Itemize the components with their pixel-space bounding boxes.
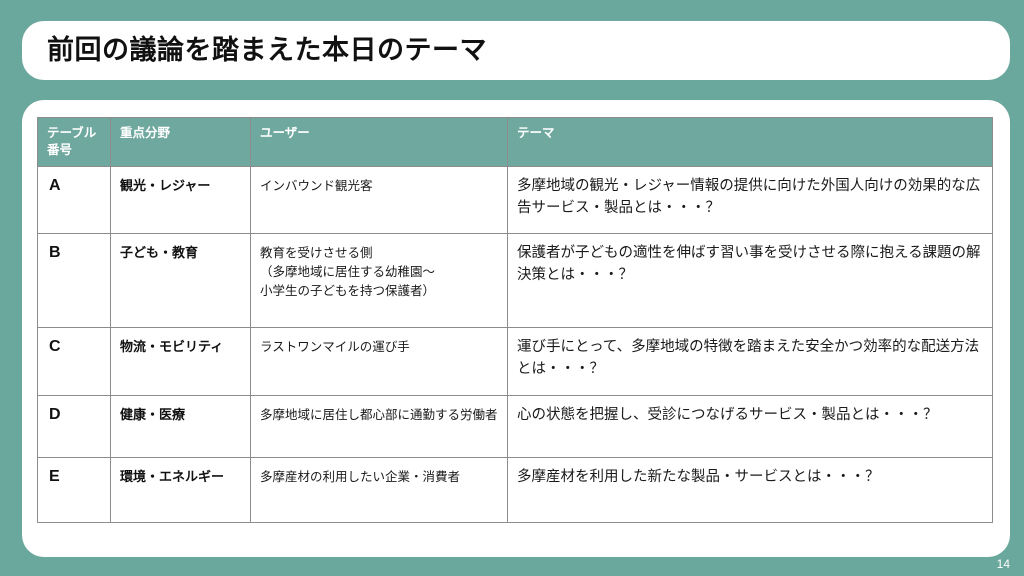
content-card: テーブル番号 重点分野 ユーザー テーマ A 観光・レジャー インバウンド観光客…: [22, 100, 1010, 557]
cell-focus-area: 子ども・教育: [111, 234, 251, 328]
table-row: E 環境・エネルギー 多摩産材の利用したい企業・消費者 多摩産材を利用した新たな…: [38, 458, 993, 523]
column-header-table-number-line2: 番号: [47, 143, 72, 157]
column-header-user: ユーザー: [251, 118, 508, 167]
theme-table: テーブル番号 重点分野 ユーザー テーマ A 観光・レジャー インバウンド観光客…: [37, 117, 993, 523]
cell-focus-area: 健康・医療: [111, 396, 251, 458]
cell-theme: 保護者が子どもの適性を伸ばす習い事を受けさせる際に抱える課題の解決策とは・・・？: [508, 234, 993, 328]
column-header-theme: テーマ: [508, 118, 993, 167]
cell-focus-area: 環境・エネルギー: [111, 458, 251, 523]
table-row: C 物流・モビリティ ラストワンマイルの運び手 運び手にとって、多摩地域の特徴を…: [38, 328, 993, 396]
cell-table-number: D: [38, 396, 111, 458]
column-header-focus-area: 重点分野: [111, 118, 251, 167]
cell-theme: 運び手にとって、多摩地域の特徴を踏まえた安全かつ効率的な配送方法とは・・・？: [508, 328, 993, 396]
cell-focus-area: 物流・モビリティ: [111, 328, 251, 396]
cell-theme: 多摩産材を利用した新たな製品・サービスとは・・・？: [508, 458, 993, 523]
cell-table-number: B: [38, 234, 111, 328]
cell-user: インバウンド観光客: [251, 167, 508, 234]
cell-table-number: A: [38, 167, 111, 234]
cell-table-number: C: [38, 328, 111, 396]
table-row: D 健康・医療 多摩地域に居住し都心部に通勤する労働者 心の状態を把握し、受診に…: [38, 396, 993, 458]
cell-table-number: E: [38, 458, 111, 523]
cell-user: 教育を受けさせる側 （多摩地域に居住する幼稚園～ 小学生の子どもを持つ保護者）: [251, 234, 508, 328]
page-number: 14: [997, 558, 1010, 570]
page-title: 前回の議論を踏まえた本日のテーマ: [22, 37, 487, 64]
cell-user: 多摩地域に居住し都心部に通勤する労働者: [251, 396, 508, 458]
cell-user: ラストワンマイルの運び手: [251, 328, 508, 396]
table-header-row: テーブル番号 重点分野 ユーザー テーマ: [38, 118, 993, 167]
table-row: B 子ども・教育 教育を受けさせる側 （多摩地域に居住する幼稚園～ 小学生の子ど…: [38, 234, 993, 328]
cell-theme: 心の状態を把握し、受診につなげるサービス・製品とは・・・？: [508, 396, 993, 458]
table-row: A 観光・レジャー インバウンド観光客 多摩地域の観光・レジャー情報の提供に向け…: [38, 167, 993, 234]
column-header-table-number: テーブル番号: [38, 118, 111, 167]
cell-theme: 多摩地域の観光・レジャー情報の提供に向けた外国人向けの効果的な広告サービス・製品…: [508, 167, 993, 234]
cell-user: 多摩産材の利用したい企業・消費者: [251, 458, 508, 523]
slide-canvas: 前回の議論を踏まえた本日のテーマ テーブル番号 重点分野 ユーザー テーマ A: [0, 0, 1024, 576]
title-card: 前回の議論を踏まえた本日のテーマ: [22, 21, 1010, 80]
column-header-table-number-line1: テーブル: [47, 126, 96, 140]
cell-focus-area: 観光・レジャー: [111, 167, 251, 234]
